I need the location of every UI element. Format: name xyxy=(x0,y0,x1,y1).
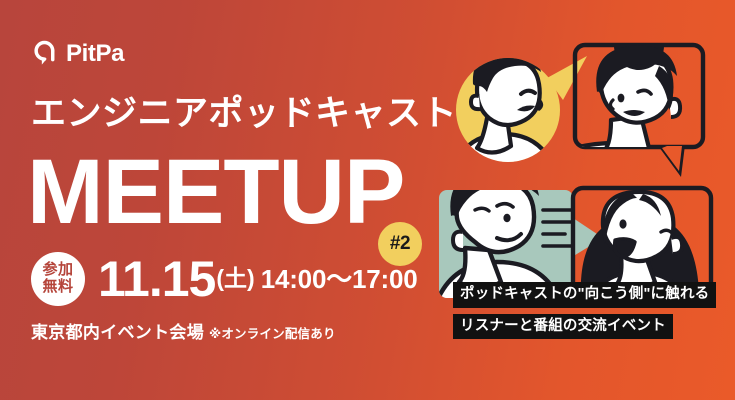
free-admission-badge: 参加 無料 xyxy=(31,252,85,306)
main-title-row: MEETUP xyxy=(27,152,404,233)
caption-stack: ポッドキャストの"向こう側"に触れる リスナーと番組の交流イベント xyxy=(453,282,716,339)
yellow-bubble-figure xyxy=(447,42,587,194)
brand-name: PitPa xyxy=(66,42,124,66)
event-date-row: 参加 無料 11.15 (土) 14:00〜17:00 xyxy=(31,252,418,306)
event-day-of-week: (土) xyxy=(216,267,254,290)
topknot-woman-bubble-figure xyxy=(555,22,703,177)
page-title: MEETUP xyxy=(27,152,404,233)
illustration-artwork xyxy=(435,0,735,400)
speech-bubble-p-icon xyxy=(32,40,59,67)
banner-left-column: PitPa エンジニアポッドキャスト MEETUP #2 参加 無料 11.15… xyxy=(0,0,445,400)
brand-logo: PitPa xyxy=(32,40,124,67)
free-badge-line-1: 参加 xyxy=(42,262,73,279)
caption-line-1: ポッドキャストの"向こう側"に触れる xyxy=(453,282,716,308)
event-venue-note: ※オンライン配信あり xyxy=(209,323,336,342)
kana-subtitle: エンジニアポッドキャスト xyxy=(31,96,457,131)
caption-line-2: リスナーと番組の交流イベント xyxy=(453,314,673,340)
event-date: 11.15 xyxy=(98,254,215,304)
event-time: 14:00〜17:00 xyxy=(261,266,418,292)
event-venue: 東京都内イベント会場 xyxy=(31,318,204,343)
free-badge-line-2: 無料 xyxy=(42,279,73,296)
event-banner: PitPa エンジニアポッドキャスト MEETUP #2 参加 無料 11.15… xyxy=(0,0,735,400)
event-venue-row: 東京都内イベント会場 ※オンライン配信あり xyxy=(31,318,336,343)
